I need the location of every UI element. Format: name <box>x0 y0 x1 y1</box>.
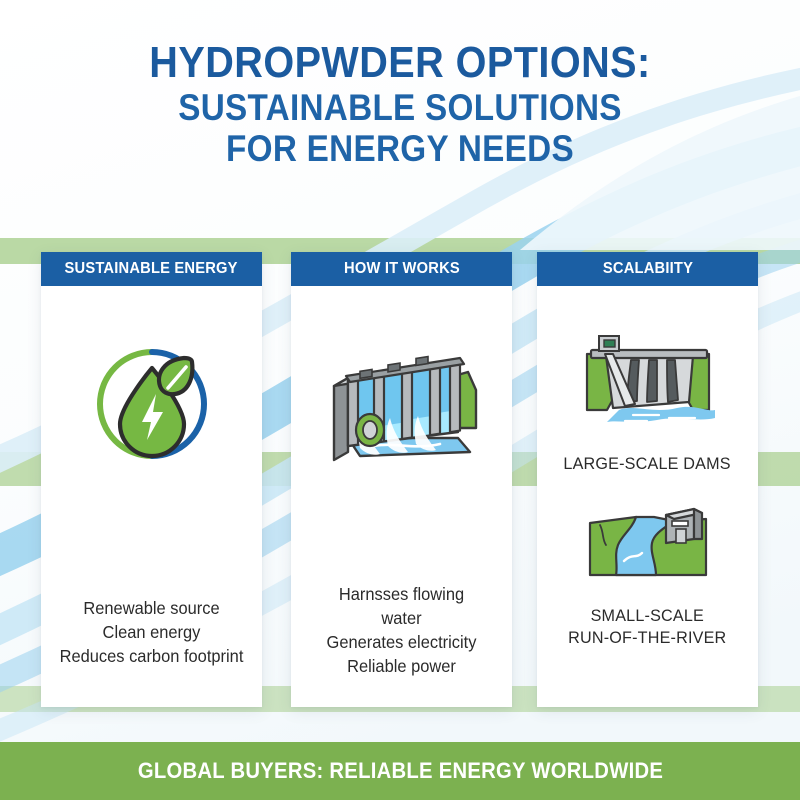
title-block: HYDROPWDER OPTIONS: SUSTAINABLE SOLUTION… <box>0 40 800 170</box>
infographic-canvas: HYDROPWDER OPTIONS: SUSTAINABLE SOLUTION… <box>0 0 800 800</box>
scal-label-2-line-2: RUN-OF-THE-RIVER <box>568 627 726 649</box>
card-3-header: SCALABIITY <box>537 252 758 286</box>
card-how-it-works[interactable]: HOW IT WORKS <box>291 252 512 707</box>
footer-banner-text: GLOBAL BUYERS: RELIABLE ENERGY WORLDWIDE <box>137 758 662 784</box>
scal-label-2-line-1: SMALL-SCALE <box>568 605 726 627</box>
title-line-3: FOR ENERGY NEEDS <box>40 128 760 169</box>
large-scale-dams-label: LARGE-SCALE DAMS <box>564 453 731 475</box>
card-2-line-4: Reliable power <box>298 654 506 678</box>
card-1-header: SUSTAINABLE ENERGY <box>41 252 262 286</box>
hydro-dam-spillway-icon <box>318 342 486 472</box>
card-1-text-block: Renewable source Clean energy Reduces ca… <box>48 596 256 668</box>
card-2-text-block: Harnsses flowing water Generates electri… <box>298 582 506 679</box>
card-2-line-3: Generates electricity <box>298 630 506 654</box>
run-of-river-icon <box>578 495 718 587</box>
card-3-body: LARGE-SCALE DAMS <box>537 286 758 707</box>
title-line-2: SUSTAINABLE SOLUTIONS <box>40 87 760 128</box>
title-line-1: HYDROPWDER OPTIONS: <box>40 40 760 87</box>
large-dam-icon <box>573 330 723 435</box>
card-1-line-1: Renewable source <box>48 596 256 620</box>
card-2-header-label: HOW IT WORKS <box>344 260 460 278</box>
card-2-line-1: Harnsses flowing <box>298 582 506 606</box>
card-scalability[interactable]: SCALABIITY <box>537 252 758 707</box>
small-scale-run-of-river-label: SMALL-SCALE RUN-OF-THE-RIVER <box>568 605 726 649</box>
card-2-line-2: water <box>298 606 506 630</box>
scal-label-1-line-1: LARGE-SCALE DAMS <box>564 453 731 475</box>
card-1-header-label: SUSTAINABLE ENERGY <box>65 260 238 278</box>
footer-banner: GLOBAL BUYERS: RELIABLE ENERGY WORLDWIDE <box>0 742 800 800</box>
card-3-header-label: SCALABIITY <box>602 260 692 278</box>
card-1-body: Renewable source Clean energy Reduces ca… <box>41 286 262 707</box>
card-sustainable-energy[interactable]: SUSTAINABLE ENERGY Renewable sour <box>41 252 262 707</box>
card-2-header: HOW IT WORKS <box>291 252 512 286</box>
card-2-body: Harnsses flowing water Generates electri… <box>291 286 512 707</box>
card-1-line-3: Reduces carbon footprint <box>48 644 256 668</box>
water-drop-leaf-energy-icon <box>88 340 216 468</box>
card-1-line-2: Clean energy <box>48 620 256 644</box>
